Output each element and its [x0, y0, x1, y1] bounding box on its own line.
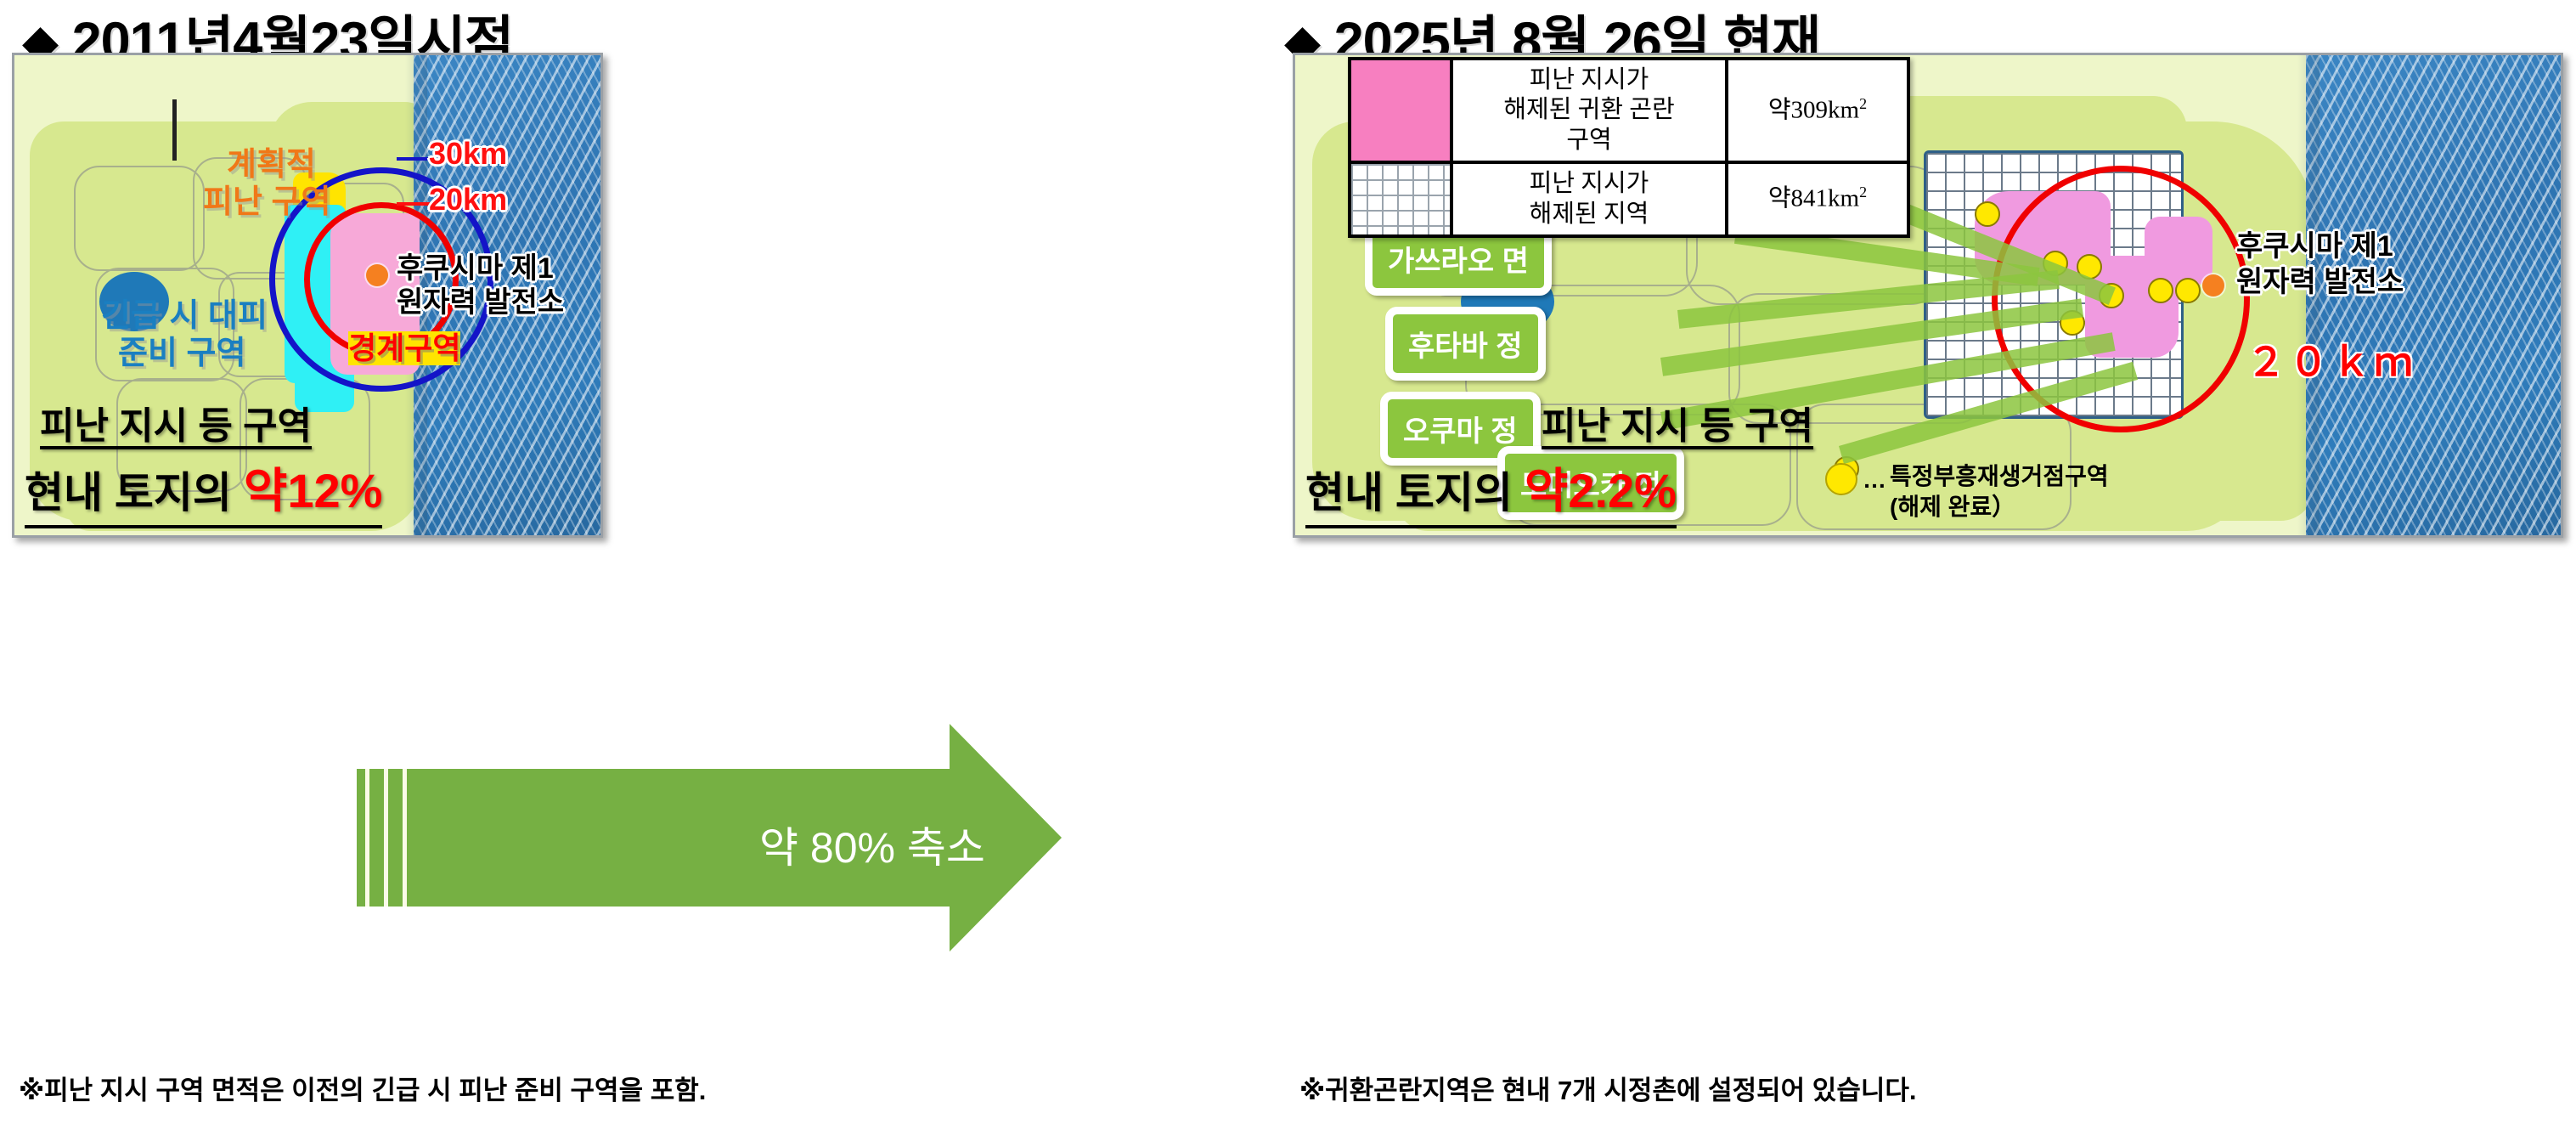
desc-line2: 해제된 귀환 곤란 — [1503, 96, 1674, 123]
left-summary-prefix: 현내 토지의 — [25, 469, 232, 517]
town-chip-futaba[interactable]: 후타바 정 — [1385, 307, 1546, 381]
value-superscript: 2 — [1859, 95, 1867, 112]
left-summary-line2: 현내 토지의 약12% — [25, 453, 382, 528]
arrow-stripe — [403, 769, 407, 907]
legend-label-line2: (해제 완료） — [1890, 492, 2015, 522]
label-plant-line1: 후쿠시마 제1 — [2236, 230, 2393, 263]
reconstruction-base-dot — [2148, 278, 2173, 303]
arrow-stripe — [384, 769, 388, 907]
value-number: 약309km — [1768, 97, 1859, 124]
value-superscript: 2 — [1859, 184, 1867, 201]
zone-legend-table: 피난 지시가 해제된 귀환 곤란 구역 약309km2 피난 지시가 해제된 지… — [1348, 57, 1910, 238]
right-footnote: ※귀환곤란지역은 현내 7개 시정촌에 설정되어 있습니다. — [1299, 1069, 1917, 1107]
desc-line1: 피난 지시가 — [1530, 66, 1649, 93]
left-footnote: ※피난 지시 구역 면적은 이전의 긴급 시 피난 준비 구역을 포함. — [19, 1069, 706, 1107]
left-summary-line1: 피난 지시 등 구역 — [40, 395, 312, 449]
label-planned-evacuation-line1: 계획적 — [227, 147, 316, 184]
right-summary-value: 약2.2% — [1525, 464, 1677, 521]
leader-line-30km — [397, 157, 431, 161]
left-map: 계획적 피난 구역 긴급 시 대피 준비 구역 경계구역 30km 20km 후… — [12, 53, 603, 538]
value-number: 약841km — [1768, 185, 1859, 212]
arrow-label: 약 80% 축소 — [759, 814, 985, 875]
infographic-root: ◆ 2011년4월23일시점 — [0, 0, 2576, 1124]
reconstruction-base-dot — [1975, 201, 2000, 227]
prefecture-boundary — [172, 99, 177, 161]
table-cell-description: 피난 지시가 해제된 귀환 곤란 구역 — [1451, 59, 1727, 162]
label-20km: 20km — [429, 183, 507, 217]
leader-line-20km — [397, 202, 431, 206]
swatch-difficult-to-return — [1350, 59, 1451, 162]
right-summary-line1: 피난 지시 등 구역 — [1542, 395, 1813, 449]
label-20km: ２０ｋｍ — [2246, 341, 2416, 385]
label-planned-evacuation-line2: 피난 구역 — [203, 184, 330, 221]
label-emergency-prep-line1: 긴급 시 대피 — [101, 298, 268, 335]
label-30km: 30km — [429, 137, 507, 171]
table-cell-value: 약309km2 — [1727, 59, 1908, 162]
label-plant-line1: 후쿠시마 제1 — [397, 252, 554, 285]
desc-line2: 해제된 지역 — [1530, 201, 1649, 228]
legend-label-line1: 특정부흥재생거점구역 — [1890, 461, 2109, 491]
desc-line1: 피난 지시가 — [1530, 170, 1649, 197]
swatch-lifted-area — [1350, 162, 1451, 236]
right-summary-prefix: 현내 토지의 — [1305, 469, 1513, 517]
reactor-location-dot — [2202, 274, 2224, 297]
right-summary-line2: 현내 토지의 약2.2% — [1305, 453, 1677, 528]
table-cell-description: 피난 지시가 해제된 지역 — [1451, 162, 1727, 236]
arrow-stripe — [365, 769, 369, 907]
label-emergency-prep-line2: 준비 구역 — [118, 336, 245, 372]
left-summary-value: 약12% — [244, 464, 383, 521]
right-map: 이다테 면 나미에 정 가쓰라오 면 후타바 정 오쿠마 정 도미오카 정 후쿠… — [1293, 53, 2563, 538]
municipal-border — [74, 166, 205, 271]
legend-leader: … — [1863, 465, 1886, 494]
reconstruction-base-dot — [2175, 278, 2201, 303]
table-row: 피난 지시가 해제된 지역 약841km2 — [1350, 162, 1908, 236]
table-row: 피난 지시가 해제된 귀환 곤란 구역 약309km2 — [1350, 59, 1908, 162]
label-restricted-zone: 경계구역 — [348, 331, 460, 365]
desc-line3: 구역 — [1566, 127, 1611, 154]
reactor-location-dot — [366, 264, 388, 286]
legend-yellow-dot-icon — [1825, 463, 1857, 495]
label-plant-line2: 원자력 발전소 — [2236, 266, 2404, 298]
label-plant-line2: 원자력 발전소 — [397, 286, 564, 319]
table-cell-value: 약841km2 — [1727, 162, 1908, 236]
